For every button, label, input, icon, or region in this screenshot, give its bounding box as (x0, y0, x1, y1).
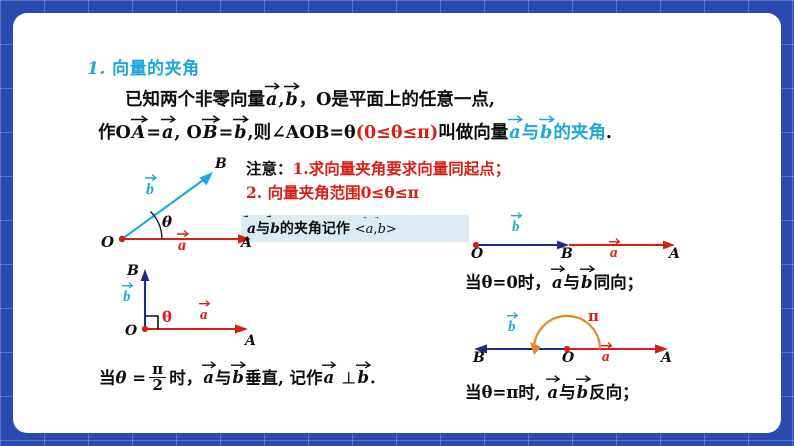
label-vector-a: a (199, 307, 209, 324)
fraction-pi-over-2: π2 (149, 362, 166, 393)
point-B-letter: B (203, 123, 218, 143)
vector-b-inline-2: b (356, 368, 370, 387)
vector-a-inline: a (265, 90, 278, 110)
caption-period: . (370, 368, 376, 387)
vector-arrow-icon (508, 114, 523, 121)
equals-1: = (146, 123, 161, 143)
vector-b-letter: b (581, 273, 593, 292)
vector-arrow-icon (576, 374, 592, 381)
heading-text: 向量的夹角 (112, 59, 200, 79)
vector-a-letter: a (602, 349, 610, 365)
caption-prefix: 当θ= (465, 383, 506, 402)
then-angle-text: ,则∠AOB=θ (248, 123, 356, 143)
note-line-2: 2. 向量夹角范围0≤θ≤π (246, 181, 419, 203)
label-point-B: B (561, 246, 573, 262)
label-point-O: O (562, 350, 574, 366)
label-point-B: B (215, 156, 227, 172)
label-point-A: A (241, 235, 252, 251)
vector-a-inline: a (546, 383, 559, 402)
note-item-2: 2. 向量夹角范围0≤θ≤π (246, 183, 419, 202)
angle-range: (0≤θ≤π) (356, 123, 439, 143)
called-text: 叫做向量 (438, 123, 508, 143)
vector-a-letter: a (366, 222, 374, 237)
label-point-B: B (473, 350, 485, 366)
caption-perpendicular: 当θ =π2时，a与b垂直, 记作a ⊥b. (99, 362, 376, 393)
label-vector-b: b (511, 219, 521, 236)
angle-term: 的夹角 (553, 123, 606, 143)
equals-2: = (219, 123, 234, 143)
note-item-1: 1.求向量夹角要求向量同起点； (293, 159, 511, 178)
vector-b-inline: b (284, 90, 298, 110)
notation-open-bracket: < (355, 222, 366, 237)
label-vector-a: a (609, 245, 619, 262)
vector-b-inline: b (576, 383, 590, 402)
vector-a-inline: a (161, 123, 174, 143)
definition-text-1: 已知两个非零向量 (125, 90, 265, 110)
note-line-1: 注意：1.求向量夹角要求向量同起点； (246, 157, 510, 179)
vector-arrow-icon (284, 81, 300, 88)
vector-arrow-icon (265, 81, 280, 88)
caption-yu: 与 (559, 383, 576, 402)
vector-b-letter: b (577, 383, 589, 402)
notation-text: ⃗a与⃗b的夹角记作 <⃗a,⃗b> (247, 218, 397, 238)
vector-b-letter: b (540, 123, 552, 143)
notation-close-bracket: > (386, 222, 397, 237)
vector-arrow-icon (356, 360, 372, 367)
general-angle-diagram: O A B a b θ (105, 161, 265, 257)
same-direction-svg (469, 219, 699, 267)
label-theta: θ (162, 308, 172, 326)
vector-a-letter: a (552, 273, 563, 292)
vector-b-letter: b (232, 368, 244, 387)
vector-arrow-icon (546, 374, 561, 381)
fraction-denominator: 2 (149, 377, 166, 393)
label-vector-b: b (507, 319, 517, 336)
angle-arc (151, 212, 163, 240)
vector-b-letter: b (512, 219, 520, 235)
label-point-B: B (127, 263, 139, 279)
vector-a-inline-2: a (322, 368, 335, 387)
caption-yu: 与 (215, 368, 232, 387)
label-point-A: A (669, 246, 680, 262)
vector-b-arrowhead (200, 172, 214, 185)
vector-b-letter: b (123, 289, 131, 305)
vector-arrow-icon (131, 114, 149, 121)
separator: , O (174, 123, 201, 143)
vector-b-letter: b (508, 319, 516, 335)
vector-a-letter: a (178, 237, 186, 254)
label-theta: θ (162, 213, 172, 231)
heading-number: 1. (87, 59, 106, 79)
opposite-direction-svg (463, 309, 693, 371)
vector-b-inline: b (233, 123, 247, 143)
perpendicular-symbol: ⊥ (341, 368, 357, 387)
point-A-letter: A (132, 123, 146, 143)
label-point-A: A (245, 333, 256, 349)
page-title: 1. 向量的夹角 (87, 54, 200, 79)
caption-suffix: 同向； (594, 273, 644, 292)
vector-a-letter: a (547, 383, 558, 402)
pi-symbol: π (506, 383, 518, 402)
slide-card: 1. 向量的夹角 已知两个非零向量a,b，O是平面上的任意一点, 作OA=a, … (13, 13, 781, 433)
vector-a-inline: a (202, 368, 215, 387)
theta-symbol: θ (116, 368, 127, 387)
notation-inner-b: ⃗b (378, 222, 386, 237)
period: . (606, 123, 612, 143)
vector-a-letter: a (323, 368, 334, 387)
vector-b-inline: b (231, 368, 245, 387)
caption-middle: 垂直, 记作 (245, 368, 323, 387)
vector-b-letter: b (357, 368, 369, 387)
caption-prefix: 当θ=0时， (465, 273, 551, 292)
vector-a-letter: a (203, 368, 214, 387)
definition-text-2: ，O是平面上的任意一点, (299, 90, 495, 110)
vector-b-letter: b (234, 123, 246, 143)
vector-b-letter: b (378, 222, 386, 237)
label-point-A: A (661, 350, 672, 366)
vector-arrow-icon (322, 360, 337, 367)
caption-same-direction: 当θ=0时，a与b同向； (465, 269, 643, 293)
vector-arrow-icon (231, 360, 247, 367)
origin-point-dot (119, 236, 125, 242)
vector-a-letter: a (266, 90, 277, 110)
label-vector-a: a (177, 237, 187, 255)
notation-inner-a: ⃗a (366, 222, 374, 237)
vector-a-inline: a (551, 273, 564, 292)
caption-shi: 时, (518, 383, 546, 402)
vector-arrow-icon (233, 114, 249, 121)
construct-text: 作O (98, 123, 131, 143)
label-vector-b: b (145, 181, 155, 199)
vector-arrow-icon (161, 114, 176, 121)
label-pi: π (588, 307, 599, 325)
vector-arrow-icon (511, 211, 523, 217)
segment-OB: B (202, 123, 219, 143)
vector-b-inline: b (580, 273, 594, 292)
segment-OA: A (131, 123, 147, 143)
caption-yu: 与 (564, 273, 581, 292)
perpendicular-diagram: O B A b θ a (121, 265, 281, 357)
vector-b-letter: b (285, 90, 297, 110)
yu-text: 与 (522, 123, 540, 143)
label-point-O: O (471, 246, 483, 262)
vector-a-letter: a (200, 307, 208, 323)
vector-a-letter: a (162, 123, 173, 143)
vector-b-inline: b (539, 123, 553, 143)
vector-b-letter: b (270, 221, 280, 237)
caption-suffix: 反向； (589, 383, 639, 402)
label-vector-a: a (601, 349, 611, 366)
caption-prefix: 当 (99, 368, 116, 387)
vector-arrow-icon (202, 114, 221, 121)
vector-b-letter: b (146, 181, 154, 198)
vector-a-letter: a (610, 245, 618, 261)
notation-tail: 的夹角记作 (280, 221, 350, 237)
same-direction-diagram: O B A b a (469, 219, 699, 267)
fraction-numerator: π (149, 362, 166, 377)
label-point-O: O (125, 323, 137, 339)
caption-shi: 时， (169, 368, 202, 387)
opposite-direction-diagram: B O A b a π (463, 309, 693, 371)
label-point-O: O (101, 233, 114, 251)
vector-arrow-icon (539, 114, 555, 121)
definition-line-1: 已知两个非零向量a,b，O是平面上的任意一点, (125, 86, 495, 111)
vector-b-arrowhead (141, 269, 150, 281)
vector-a-inline: a (508, 123, 521, 143)
slide-background: 1. 向量的夹角 已知两个非零向量a,b，O是平面上的任意一点, 作OA=a, … (0, 0, 794, 446)
equals-sign: = (132, 368, 146, 387)
definition-line-2: 作OA=a, OB=b,则∠AOB=θ(0≤θ≤π)叫做向量a与b的夹角. (98, 119, 612, 144)
vector-a-letter: a (509, 123, 520, 143)
vector-arrow-icon (202, 360, 217, 367)
notation-vector-b: ⃗b (270, 221, 280, 237)
caption-opposite-direction: 当θ=π时, a与b反向； (465, 379, 639, 403)
origin-point-dot (142, 326, 148, 332)
label-vector-b: b (122, 289, 132, 306)
